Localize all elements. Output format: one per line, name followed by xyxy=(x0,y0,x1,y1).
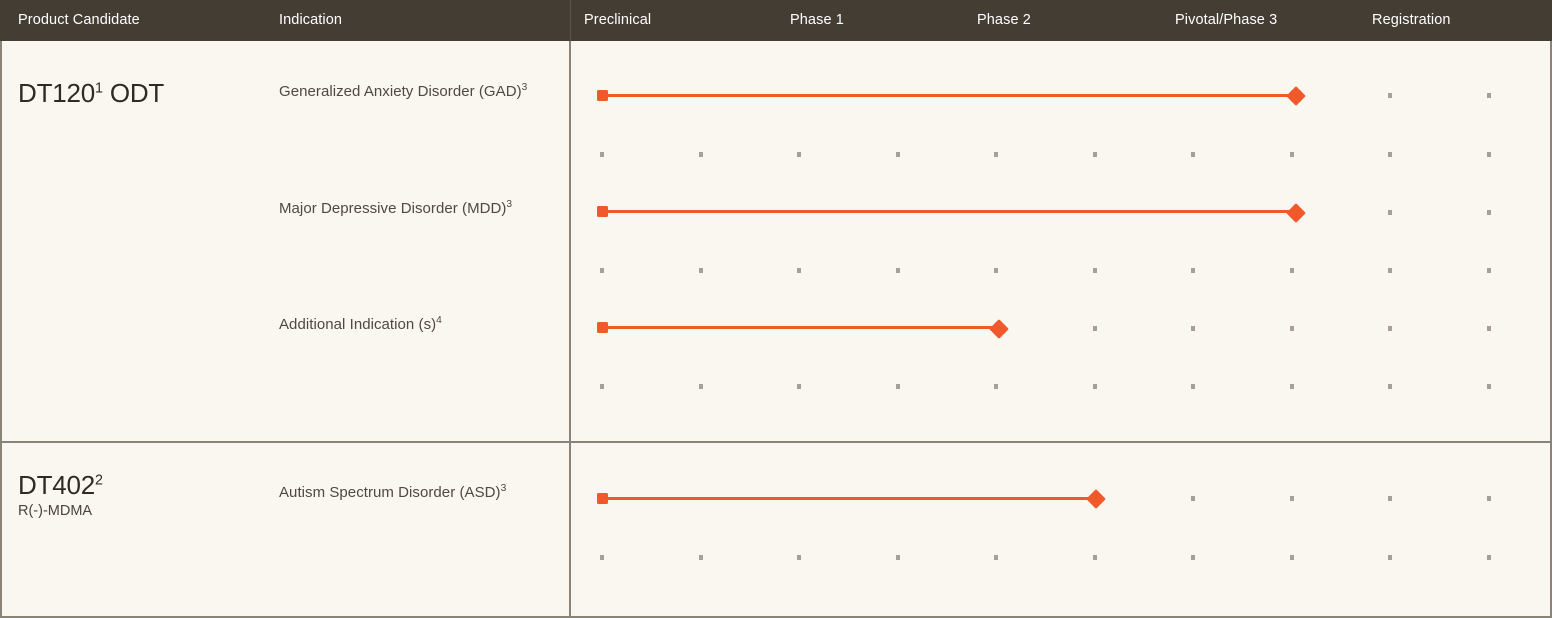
grid-dot xyxy=(896,268,900,273)
indication-label: Additional Indication (s) xyxy=(279,316,436,333)
candidate-label: DT120 xyxy=(18,78,95,108)
grid-dot xyxy=(1290,555,1294,560)
candidate-subtitle-dt402: R(-)-MDMA xyxy=(18,503,92,519)
progress-bar-asd xyxy=(605,497,1096,500)
grid-dot xyxy=(1290,384,1294,389)
grid-dot xyxy=(1388,210,1392,215)
indication-mdd: Major Depressive Disorder (MDD)3 xyxy=(279,200,512,217)
grid-dot xyxy=(1487,326,1491,331)
grid-dot xyxy=(1093,268,1097,273)
grid-dot xyxy=(1388,384,1392,389)
grid-dot xyxy=(1290,496,1294,501)
grid-dot xyxy=(699,268,703,273)
grid-dot xyxy=(1388,152,1392,157)
grid-dot xyxy=(1093,152,1097,157)
column-header-preclinical: Preclinical xyxy=(584,0,651,41)
grid-dot xyxy=(797,268,801,273)
indication-gad: Generalized Anxiety Disorder (GAD)3 xyxy=(279,83,527,100)
indication-label: Generalized Anxiety Disorder (GAD) xyxy=(279,83,522,100)
indication-asd: Autism Spectrum Disorder (ASD)3 xyxy=(279,484,506,501)
grid-dot xyxy=(699,152,703,157)
indication-footnote: 4 xyxy=(436,315,442,326)
pipeline-chart: Product Candidate Indication Preclinical… xyxy=(0,0,1552,618)
grid-dot xyxy=(1388,496,1392,501)
candidate-footnote: 2 xyxy=(95,472,103,488)
grid-dot xyxy=(1093,384,1097,389)
grid-dot xyxy=(1093,555,1097,560)
indication-label: Autism Spectrum Disorder (ASD) xyxy=(279,484,501,501)
grid-dot xyxy=(1191,268,1195,273)
grid-dot xyxy=(1487,555,1491,560)
grid-dot xyxy=(994,268,998,273)
column-header-indication: Indication xyxy=(279,0,342,41)
grid-dot xyxy=(1290,152,1294,157)
grid-dot xyxy=(994,384,998,389)
grid-dot xyxy=(1191,496,1195,501)
grid-dot xyxy=(896,384,900,389)
pipeline-header: Product Candidate Indication Preclinical… xyxy=(0,0,1552,41)
column-divider-chart xyxy=(569,41,571,618)
grid-dot xyxy=(994,555,998,560)
grid-dot xyxy=(797,555,801,560)
grid-dot xyxy=(896,555,900,560)
grid-dot xyxy=(1487,210,1491,215)
column-header-phase-1: Phase 1 xyxy=(790,0,844,41)
progress-bar-additional xyxy=(605,326,999,329)
candidate-label: DT402 xyxy=(18,470,95,500)
candidate-suffix: ODT xyxy=(103,78,164,108)
grid-dot xyxy=(797,384,801,389)
progress-bar-mdd xyxy=(605,210,1296,213)
grid-dot xyxy=(1191,152,1195,157)
grid-dot xyxy=(1388,268,1392,273)
grid-dot xyxy=(1388,555,1392,560)
column-header-pivotal-phase-3: Pivotal/Phase 3 xyxy=(1175,0,1277,41)
column-header-registration: Registration xyxy=(1372,0,1451,41)
grid-dot xyxy=(1290,268,1294,273)
grid-dot xyxy=(797,152,801,157)
grid-dot xyxy=(994,152,998,157)
grid-dot xyxy=(1487,152,1491,157)
grid-dot xyxy=(896,152,900,157)
grid-dot xyxy=(600,268,604,273)
grid-dot xyxy=(1290,326,1294,331)
candidate-name-dt402: DT4022 xyxy=(18,470,103,501)
grid-dot xyxy=(1191,384,1195,389)
column-header-product-candidate: Product Candidate xyxy=(18,0,140,41)
grid-dot xyxy=(1487,268,1491,273)
grid-dot xyxy=(699,555,703,560)
grid-dot xyxy=(1487,93,1491,98)
grid-dot xyxy=(699,384,703,389)
column-header-phase-2: Phase 2 xyxy=(977,0,1031,41)
grid-dot xyxy=(1093,326,1097,331)
grid-dot xyxy=(1388,326,1392,331)
indication-additional: Additional Indication (s)4 xyxy=(279,316,442,333)
header-divider xyxy=(570,0,571,41)
grid-dot xyxy=(600,555,604,560)
pipeline-body xyxy=(0,41,1552,618)
grid-dot xyxy=(600,384,604,389)
grid-dot xyxy=(1487,384,1491,389)
grid-dot xyxy=(600,152,604,157)
progress-bar-gad xyxy=(605,94,1296,97)
grid-dot xyxy=(1191,555,1195,560)
grid-dot xyxy=(1191,326,1195,331)
indication-footnote: 3 xyxy=(522,82,528,93)
grid-dot xyxy=(1487,496,1491,501)
candidate-footnote: 1 xyxy=(95,80,103,96)
indication-label: Major Depressive Disorder (MDD) xyxy=(279,200,506,217)
grid-dot xyxy=(1388,93,1392,98)
indication-footnote: 3 xyxy=(506,199,512,210)
indication-footnote: 3 xyxy=(501,483,507,494)
candidate-name-dt120: DT1201 ODT xyxy=(18,78,164,109)
section-divider xyxy=(0,441,1552,443)
